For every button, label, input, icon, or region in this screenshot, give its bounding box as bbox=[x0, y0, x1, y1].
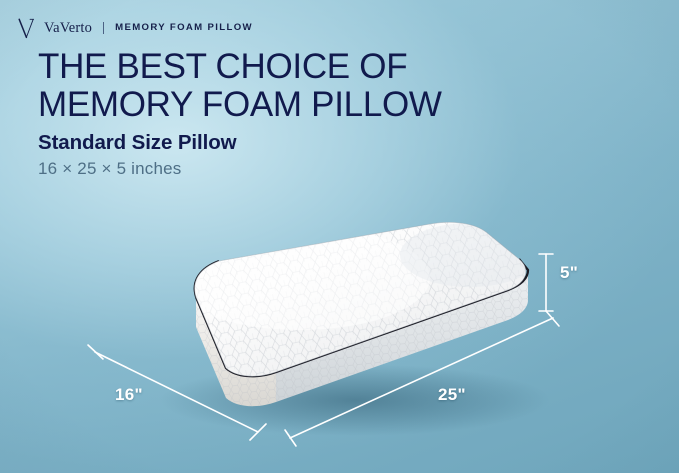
pillow-svg bbox=[0, 0, 679, 473]
product-banner: VaVerto MEMORY FOAM PILLOW THE BEST CHOI… bbox=[0, 0, 679, 473]
product-illustration bbox=[0, 0, 679, 473]
dimension-label-width: 25" bbox=[438, 386, 466, 403]
dimension-label-height: 5" bbox=[560, 264, 578, 281]
dimension-line-height bbox=[539, 254, 553, 311]
dimension-label-depth: 16" bbox=[115, 386, 143, 403]
